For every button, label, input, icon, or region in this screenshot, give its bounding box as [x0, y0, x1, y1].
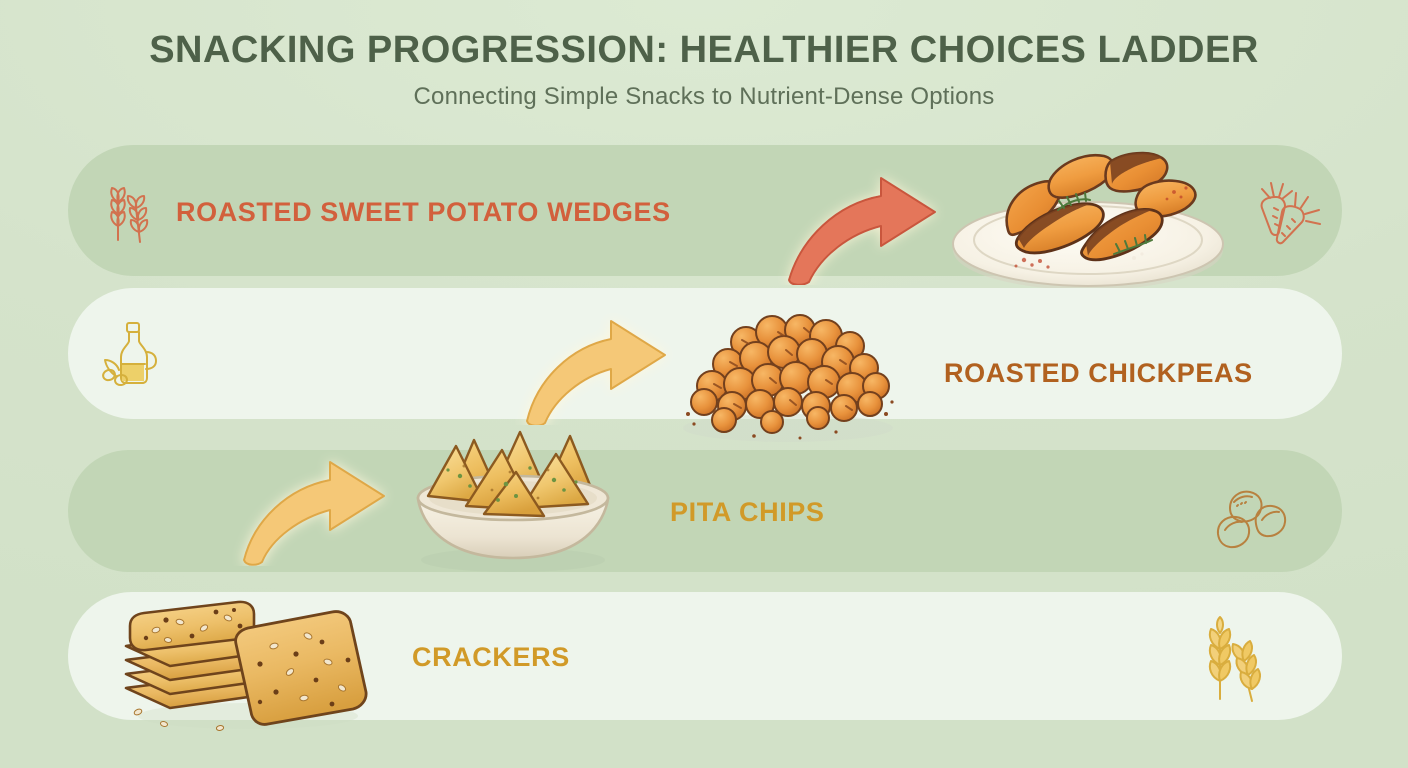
row-label-pita-chips: PITA CHIPS [670, 497, 825, 528]
row-band-roasted-chickpeas[interactable] [68, 288, 1342, 419]
row-label-roasted-chickpeas: ROASTED CHICKPEAS [944, 358, 1253, 389]
page-title: SNACKING PROGRESSION: HEALTHIER CHOICES … [0, 30, 1408, 72]
page-subtitle: Connecting Simple Snacks to Nutrient-Den… [0, 83, 1408, 111]
olive-oil-bottle-icon [96, 318, 166, 390]
row-band-crackers[interactable] [68, 592, 1342, 720]
carrots-icon [1248, 175, 1322, 249]
wheat-stalks-icon [1194, 615, 1276, 703]
beans-icon [1210, 480, 1292, 552]
row-label-roasted-sweet-potato-wedges: ROASTED SWEET POTATO WEDGES [176, 197, 671, 228]
wheat-outline-icon [96, 178, 158, 246]
infographic-canvas: SNACKING PROGRESSION: HEALTHIER CHOICES … [0, 0, 1408, 768]
row-label-crackers: CRACKERS [412, 642, 570, 673]
header: SNACKING PROGRESSION: HEALTHIER CHOICES … [0, 30, 1408, 111]
